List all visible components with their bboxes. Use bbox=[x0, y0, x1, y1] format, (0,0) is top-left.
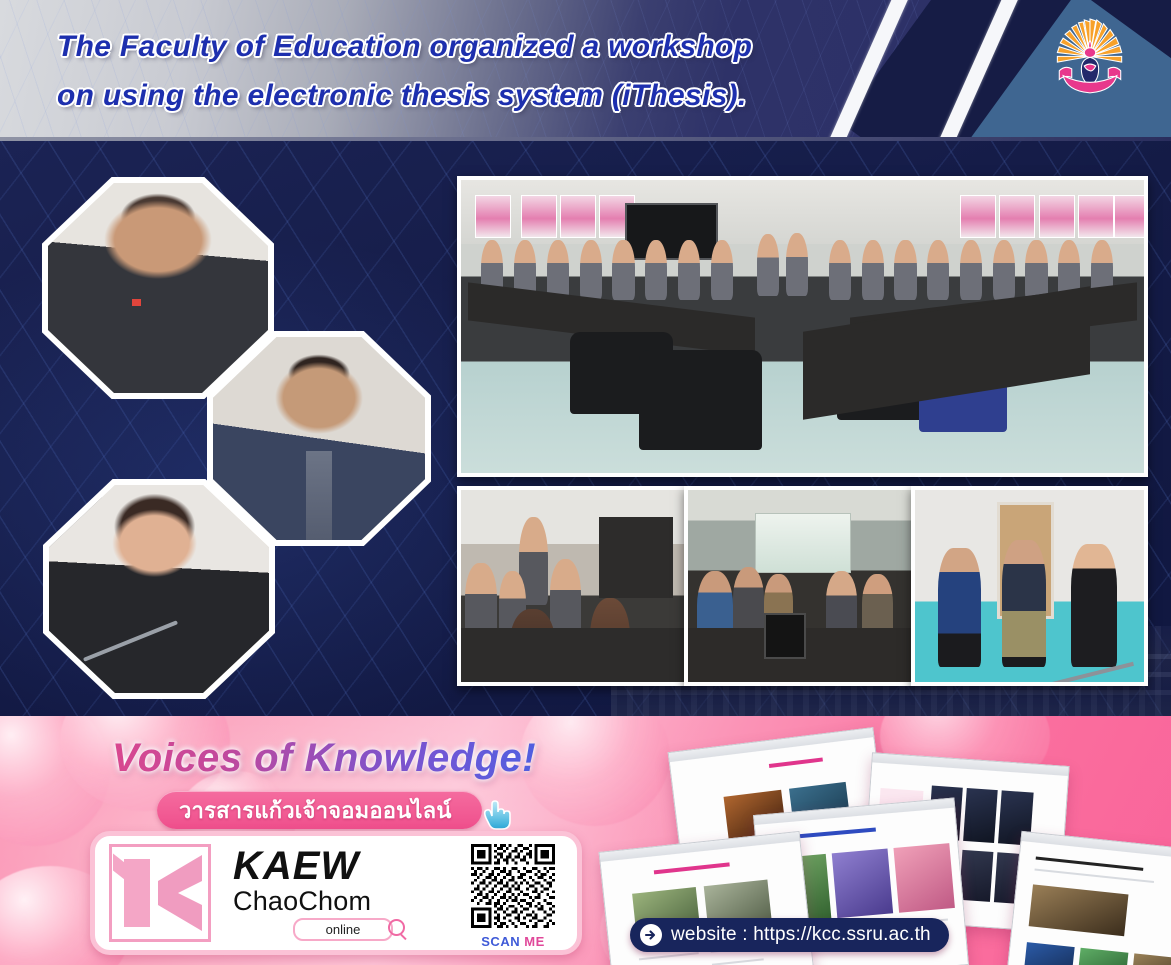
room-poster-row bbox=[475, 195, 1131, 236]
speaker-2 bbox=[1002, 540, 1046, 667]
projector-screen bbox=[755, 513, 851, 573]
kaew-title: KAEW bbox=[233, 846, 393, 886]
pointing-hand-icon bbox=[476, 798, 512, 832]
kaew-chevron-icon bbox=[156, 855, 204, 931]
portrait-lecturer-2-photo bbox=[213, 337, 425, 540]
photo-training-session-image bbox=[688, 490, 911, 682]
lab-desk bbox=[461, 628, 684, 682]
portrait-host bbox=[43, 479, 275, 699]
photo-computer-lab bbox=[457, 486, 688, 686]
page-title-line-2: on using the electronic thesis system (i… bbox=[57, 71, 857, 120]
scan-me-word-1: SCAN bbox=[481, 934, 520, 949]
kaew-numeral-one bbox=[124, 859, 150, 927]
portrait-lecturer-1-photo bbox=[48, 183, 268, 393]
lab-person-3 bbox=[550, 559, 581, 636]
room-attendees bbox=[475, 236, 1131, 300]
qr-code-icon[interactable] bbox=[471, 844, 555, 928]
arrow-right-icon bbox=[640, 924, 662, 946]
scan-me-word-2: ME bbox=[524, 934, 545, 949]
poster-root: The Faculty of Education organized a wor… bbox=[0, 0, 1171, 965]
mockup-4-body bbox=[1005, 841, 1171, 965]
kaew-subtitle: ChaoChom bbox=[233, 886, 393, 916]
photo-computer-lab-image bbox=[461, 490, 684, 682]
portrait-host-inner bbox=[49, 485, 269, 693]
portrait-host-photo bbox=[49, 485, 269, 693]
photo-main-meeting-room bbox=[457, 176, 1148, 477]
kaew-online-label: online bbox=[326, 922, 361, 937]
kaew-wordmark: KAEW ChaoChom online bbox=[233, 846, 393, 941]
website-link-label: website : https://kcc.ssru.ac.th bbox=[671, 924, 931, 946]
photo-speakers-stage-image bbox=[915, 490, 1144, 682]
gallery-stage bbox=[0, 141, 1171, 716]
kaew-online-badge: online bbox=[293, 918, 393, 941]
qr-block[interactable]: SCAN ME bbox=[467, 844, 559, 949]
magnifier-icon bbox=[388, 919, 405, 936]
training-person-2 bbox=[733, 567, 764, 636]
website-link-pill[interactable]: website : https://kcc.ssru.ac.th bbox=[630, 918, 949, 952]
header-banner: The Faculty of Education organized a wor… bbox=[0, 0, 1171, 141]
photo-training-session bbox=[684, 486, 915, 686]
lab-display bbox=[599, 517, 673, 598]
scan-me-label: SCAN ME bbox=[467, 934, 559, 949]
training-person-4 bbox=[826, 571, 857, 636]
training-laptop bbox=[764, 613, 806, 659]
browser-mockup-4 bbox=[1004, 831, 1171, 965]
ssru-crest-icon bbox=[1042, 18, 1138, 114]
kaew-mark bbox=[109, 844, 211, 942]
kaew-logo-card[interactable]: KAEW ChaoChom online bbox=[90, 831, 582, 955]
promo-thai-label: วารสารแก้วเจ้าจอมออนไลน์ bbox=[157, 791, 482, 829]
speaker-3 bbox=[1071, 544, 1117, 667]
promo-headline: Voices of Knowledge! bbox=[112, 736, 536, 781]
room-chair-2 bbox=[639, 350, 762, 450]
photo-main-meeting-room-image bbox=[461, 180, 1144, 473]
promo-thai-label-text: วารสารแก้วเจ้าจอมออนไลน์ bbox=[179, 793, 452, 828]
photo-speakers-stage bbox=[911, 486, 1148, 686]
page-title-line-1: The Faculty of Education organized a wor… bbox=[57, 22, 857, 71]
speaker-1 bbox=[938, 548, 982, 667]
portrait-lecturer-2-inner bbox=[213, 337, 425, 540]
page-title: The Faculty of Education organized a wor… bbox=[57, 22, 857, 120]
portrait-lecturer-1-inner bbox=[48, 183, 268, 393]
